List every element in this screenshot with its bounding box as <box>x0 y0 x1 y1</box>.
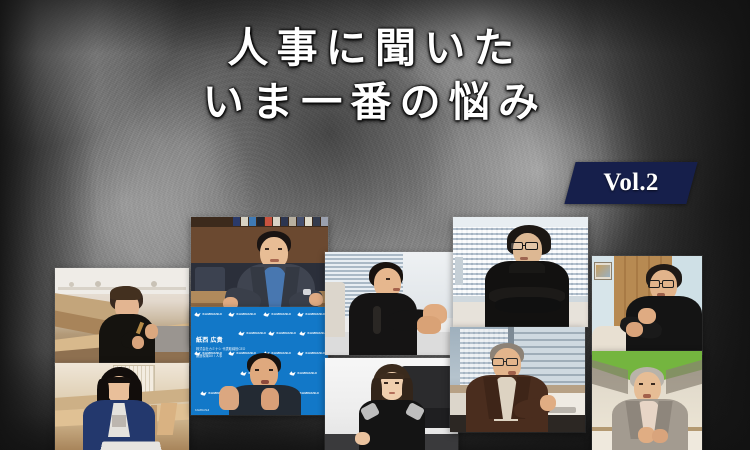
poster-title: 人事に聞いた いま一番の悩み <box>0 22 750 130</box>
speaker-subtitle: 株式会社カミナシ 代表取締役CEO <box>196 346 245 351</box>
collage-photo-2 <box>55 363 189 450</box>
kaminashi-bird-icon <box>299 331 305 336</box>
kaminashi-bird-icon <box>269 331 275 336</box>
kaminashi-bird-icon <box>229 312 235 317</box>
kaminashi-logo-text: KAMINASHI <box>277 332 296 335</box>
kaminashi-bird-icon <box>297 312 303 317</box>
kaminashi-bird-icon <box>194 312 200 317</box>
collage-photo-7 <box>453 217 588 327</box>
collage-photo-9 <box>592 256 702 354</box>
kaminashi-logo-text: KAMINASHI <box>271 313 290 316</box>
backdrop-footer-logo: KAMINASHI <box>195 409 209 412</box>
title-line-2: いま一番の悩み <box>0 74 750 130</box>
collage-photo-1 <box>55 268 189 365</box>
poster-canvas: 人事に聞いた いま一番の悩み Vol.2 <box>0 0 750 450</box>
kaminashi-logo-text: KAMINASHI <box>237 313 256 316</box>
kaminashi-logo-text: KAMINASHI <box>307 332 326 335</box>
volume-badge-label: Vol.2 <box>570 162 692 204</box>
collage-photo-8 <box>450 327 585 432</box>
kaminashi-bird-icon <box>263 312 269 317</box>
collage-photo-5 <box>325 252 458 355</box>
kaminashi-bird-icon <box>200 391 206 396</box>
volume-badge: Vol.2 <box>564 162 697 204</box>
collage-photo-10 <box>592 351 702 450</box>
speaker-name: 紙西 広貴 <box>196 335 245 344</box>
title-line-1: 人事に聞いた <box>0 22 750 74</box>
kaminashi-logo-text: KAMINASHI <box>203 313 222 316</box>
collage-photo-4: KAMINASHI KAMINASHI KAMINASHI KAMINASHI … <box>191 307 328 415</box>
kaminashi-logo-text: KAMINASHI <box>305 352 324 355</box>
collage-photo-6 <box>325 358 458 450</box>
kaminashi-logo-text: KAMINASHI <box>305 313 324 316</box>
kaminashi-logo-text: KAMINASHI <box>247 332 266 335</box>
